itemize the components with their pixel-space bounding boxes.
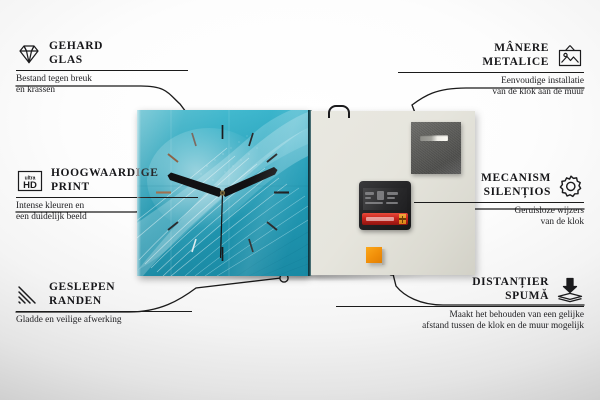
feature-header: GEHARD GLAS	[16, 40, 188, 67]
feature-rule	[16, 311, 192, 312]
clock-battery	[362, 213, 408, 225]
feature-rule	[16, 70, 188, 71]
feature-description: Geruisloze wijzers van de klok	[414, 206, 584, 229]
feature-title: MECANISM SILENȚIOS	[481, 172, 551, 199]
feature-hoogwaardige-print: ultra HD HOOGWAARDIGE PRINT Intense kleu…	[16, 167, 198, 223]
mechanism-print-marks	[364, 190, 406, 208]
battery-label	[366, 217, 394, 221]
feature-rule	[398, 72, 584, 73]
feature-title: DISTANȚIER SPUMĂ	[472, 276, 549, 303]
feature-header: MÂNERE METALICE	[398, 42, 584, 69]
feature-description: Intense kleuren en een duidelijk beeld	[16, 201, 198, 224]
clock-mechanism-box	[359, 181, 411, 230]
feature-rule	[414, 202, 584, 203]
feature-mecanism-silentios: MECANISM SILENȚIOS Geruisloze wijzers va…	[414, 172, 584, 228]
battery-positive-terminal	[399, 214, 406, 224]
feature-header: ultra HD HOOGWAARDIGE PRINT	[16, 167, 198, 194]
infographic-canvas: GEHARD GLAS Bestand tegen breuk en krass…	[0, 0, 600, 400]
wall-hanging-frame-icon	[556, 44, 584, 68]
feature-description: Maakt het behouden van een gelijke afsta…	[336, 310, 584, 333]
feature-header: GESLEPEN RANDEN	[16, 281, 192, 308]
diamond-icon	[16, 43, 42, 65]
feature-manere-metalice: MÂNERE METALICE Eenvoudige installatie v…	[398, 42, 584, 98]
ultra-hd-icon: ultra HD	[16, 169, 44, 193]
metal-hanger-plate	[411, 122, 461, 174]
beveled-edges-icon	[16, 284, 42, 306]
feature-rule	[336, 306, 584, 307]
feature-header: DISTANȚIER SPUMĂ	[336, 276, 584, 303]
feature-title: GEHARD GLAS	[49, 40, 103, 67]
feature-title: MÂNERE METALICE	[482, 42, 549, 69]
arrow-down-onto-stack-icon	[556, 277, 584, 303]
hanger-slot	[420, 135, 448, 141]
feature-description: Bestand tegen breuk en krassen	[16, 74, 188, 97]
svg-text:HD: HD	[23, 180, 37, 191]
feature-gehard-glas: GEHARD GLAS Bestand tegen breuk en krass…	[16, 40, 188, 96]
gear-icon	[558, 174, 584, 198]
feature-description: Gladde en veilige afwerking	[16, 315, 192, 326]
feature-title: GESLEPEN RANDEN	[49, 281, 115, 308]
foam-spacer	[366, 247, 382, 263]
feature-header: MECANISM SILENȚIOS	[414, 172, 584, 199]
feature-rule	[16, 197, 198, 198]
feature-title: HOOGWAARDIGE PRINT	[51, 167, 159, 194]
feature-distantier-spuma: DISTANȚIER SPUMĂ Maakt het behouden van …	[336, 276, 584, 332]
feature-geslepen-randen: GESLEPEN RANDEN Gladde en veilige afwerk…	[16, 281, 192, 326]
mechanism-hanging-loop	[328, 105, 350, 118]
feature-description: Eenvoudige installatie van de klok aan d…	[398, 76, 584, 99]
